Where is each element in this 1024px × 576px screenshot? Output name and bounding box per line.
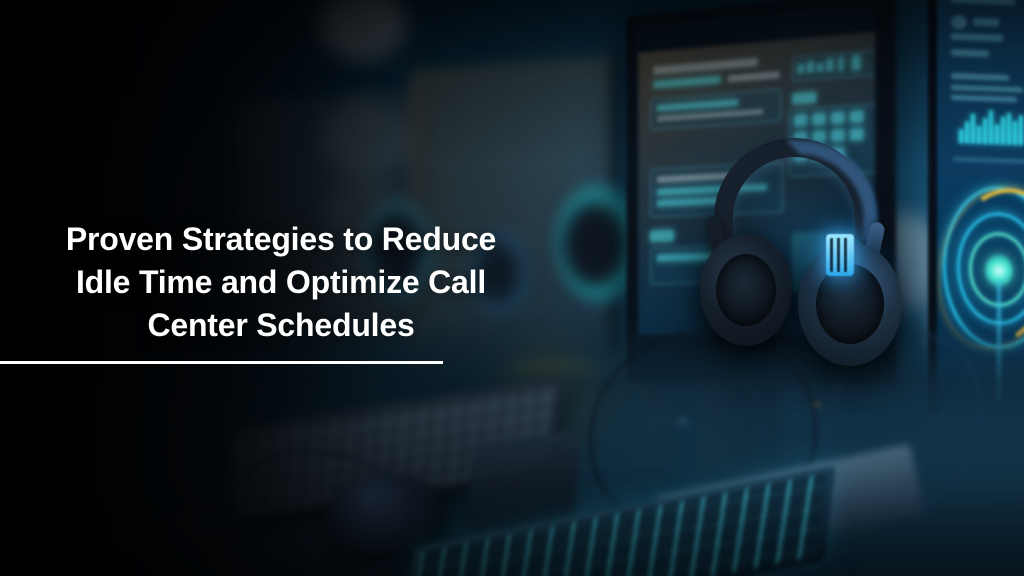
title-line-2: Idle Time and Optimize Call <box>76 264 486 300</box>
hero-banner: Proven Strategies to Reduce Idle Time an… <box>0 0 1024 576</box>
page-title: Proven Strategies to Reduce Idle Time an… <box>50 218 512 347</box>
title-line-1: Proven Strategies to Reduce <box>66 221 496 257</box>
title-divider <box>0 361 443 364</box>
title-line-3: Center Schedules <box>147 307 414 343</box>
hero-copy: Proven Strategies to Reduce Idle Time an… <box>50 218 512 347</box>
